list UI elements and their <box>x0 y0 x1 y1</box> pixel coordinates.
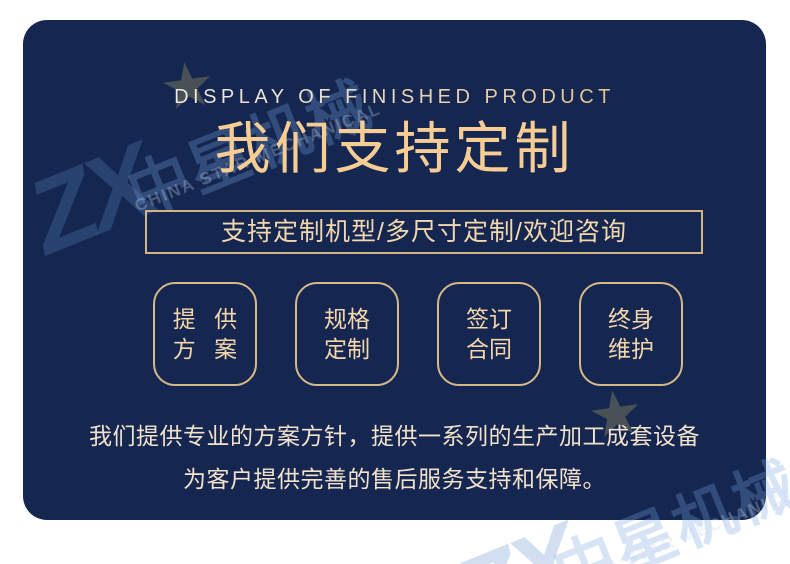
feature-card-spec[interactable]: 规格 定制 <box>295 282 399 386</box>
subtitle-text: 支持定制机型/多尺寸定制/欢迎咨询 <box>221 220 627 245</box>
promo-card: ZX 中星机械 CHINA STAR MECHANICAL ★ ZX 中星机械 … <box>23 20 766 520</box>
feature-card-plan[interactable]: 提 供 方 案 <box>153 282 257 386</box>
feature-label-line1: 提 供 <box>167 306 243 332</box>
feature-card-contract[interactable]: 签订 合同 <box>437 282 541 386</box>
footer-line-1: 我们提供专业的方案方针，提供一系列的生产加工成套设备 <box>23 415 766 458</box>
footer-line-2: 为客户提供完善的售后服务支持和保障。 <box>23 458 766 501</box>
kicker-text: DISPLAY OF FINISHED PRODUCT <box>23 86 766 109</box>
feature-label-line1: 签订 <box>466 306 512 332</box>
feature-label-line1: 终身 <box>608 306 654 332</box>
page-title: 我们支持定制 <box>23 117 766 181</box>
feature-card-maintenance[interactable]: 终身 维护 <box>579 282 683 386</box>
feature-label-line2: 合同 <box>466 336 512 362</box>
subtitle-banner: 支持定制机型/多尺寸定制/欢迎咨询 <box>145 210 703 254</box>
feature-label-line1: 规格 <box>324 306 370 332</box>
poster-canvas: ZX 中星机械 CHINA STAR MECHANICAL ★ ZX 中星机械 … <box>0 0 790 564</box>
feature-label-line2: 维护 <box>608 336 654 362</box>
feature-label-line2: 定制 <box>324 336 370 362</box>
feature-label-line2: 方 案 <box>167 336 243 362</box>
footer-description: 我们提供专业的方案方针，提供一系列的生产加工成套设备 为客户提供完善的售后服务支… <box>23 415 766 500</box>
feature-list: 提 供 方 案 规格 定制 签订 合同 终身 维护 <box>153 282 683 386</box>
